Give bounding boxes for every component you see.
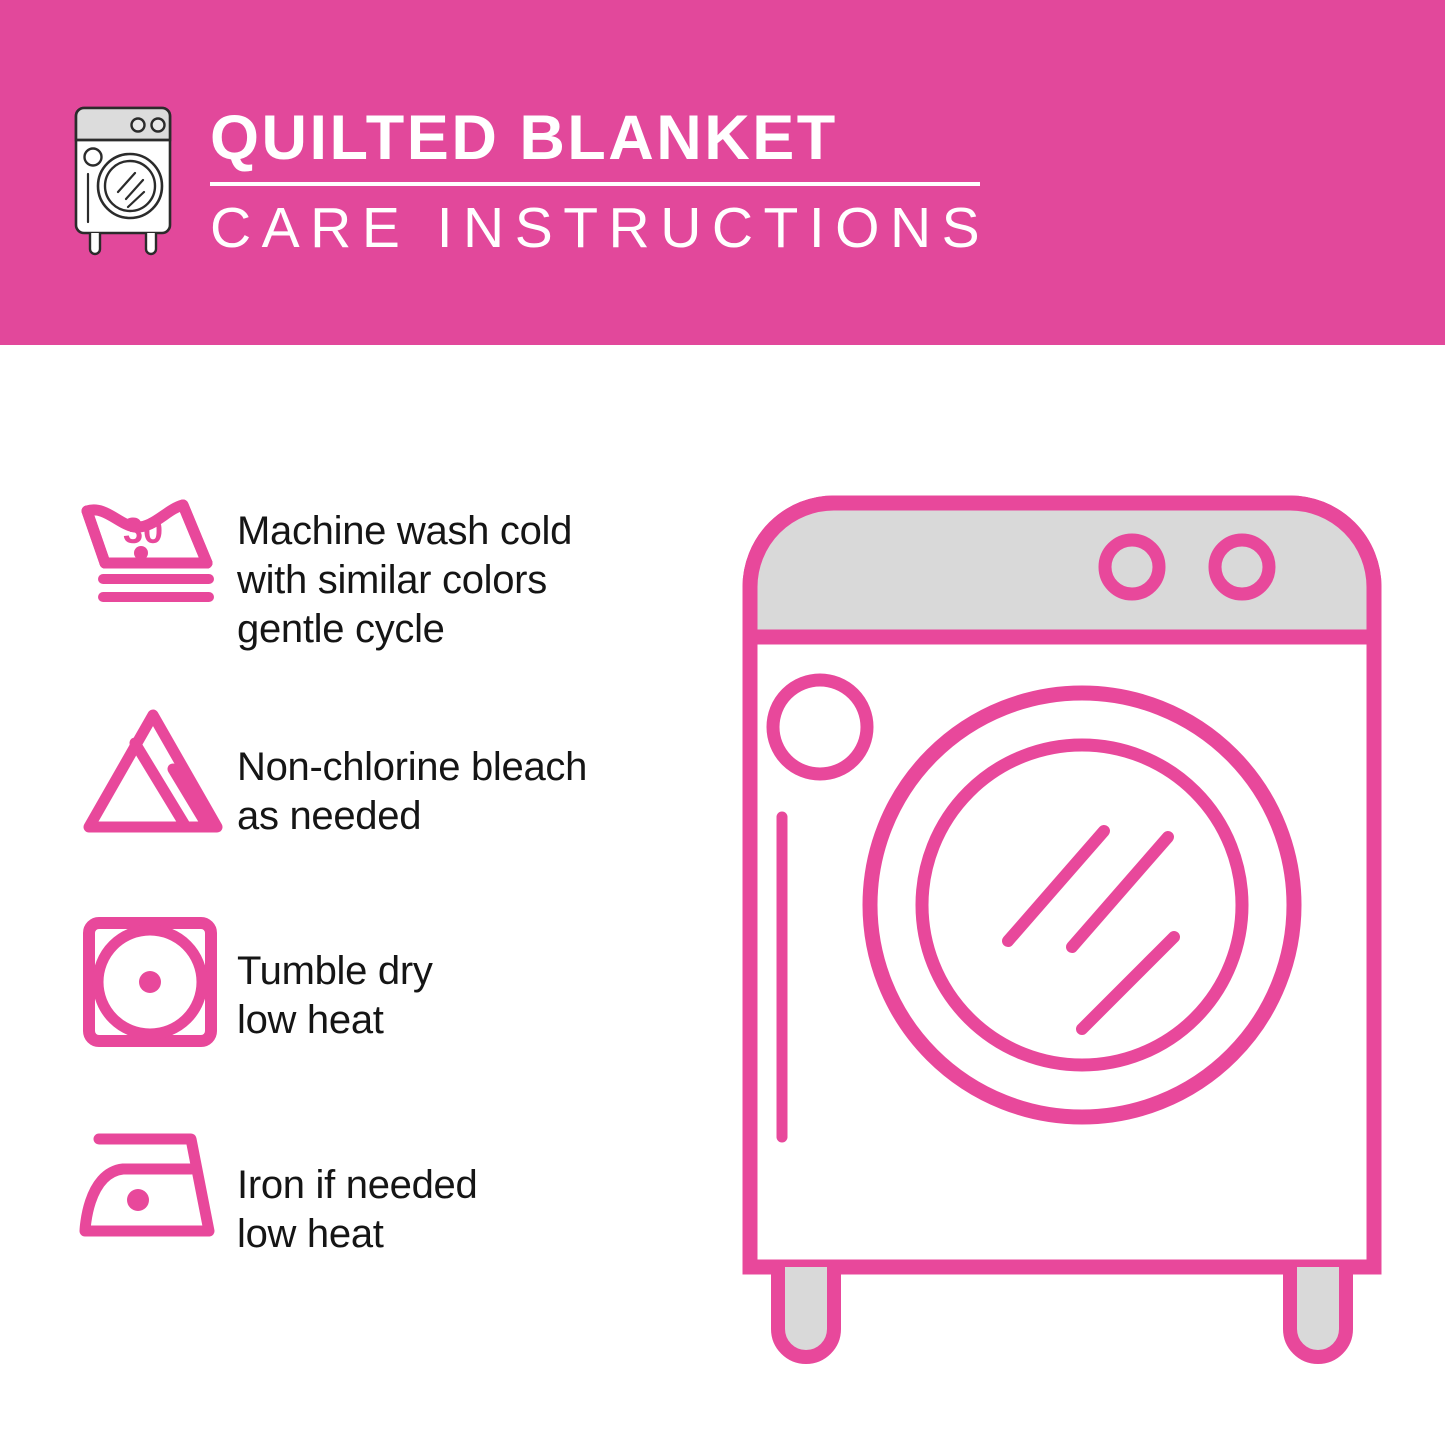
care-instructions-page: QUILTED BLANKET CARE INSTRUCTIONS 30 [0,0,1445,1445]
bleach-triangle-icon [62,695,237,841]
list-item: Tumble dry low heat [62,905,702,1115]
page-subtitle: CARE INSTRUCTIONS [210,199,990,257]
header-title-block: QUILTED BLANKET CARE INSTRUCTIONS [210,106,990,257]
care-line: low heat [237,996,702,1045]
care-line: Machine wash cold [237,507,702,556]
care-line: gentle cycle [237,605,702,654]
title-divider [210,182,980,186]
care-line: Non-chlorine bleach [237,743,702,792]
wash-tub-icon: 30 [62,485,237,631]
list-item: 30 Machine wash cold with similar colors… [62,485,702,695]
page-title: QUILTED BLANKET [210,106,990,170]
washing-machine-illustration [712,465,1412,1365]
care-line: Tumble dry [237,947,702,996]
care-line: as needed [237,792,702,841]
header-content: QUILTED BLANKET CARE INSTRUCTIONS [58,100,990,260]
care-line: low heat [237,1210,702,1259]
tumble-dry-icon [62,905,237,1051]
care-line: Iron if needed [237,1161,702,1210]
list-item: Iron if needed low heat [62,1115,702,1325]
care-instruction-text: Iron if needed low heat [237,1115,702,1259]
iron-icon [62,1115,237,1251]
care-instruction-text: Machine wash cold with similar colors ge… [237,485,702,653]
list-item: Non-chlorine bleach as needed [62,695,702,905]
care-line: with similar colors [237,556,702,605]
header-banner: QUILTED BLANKET CARE INSTRUCTIONS [0,0,1445,345]
care-instruction-text: Non-chlorine bleach as needed [237,695,702,841]
washing-machine-icon [58,100,188,260]
care-symbol-list: 30 Machine wash cold with similar colors… [62,485,702,1325]
main-content: 30 Machine wash cold with similar colors… [0,345,1445,1445]
wash-temperature-label: 30 [122,510,162,551]
care-instruction-text: Tumble dry low heat [237,905,702,1045]
